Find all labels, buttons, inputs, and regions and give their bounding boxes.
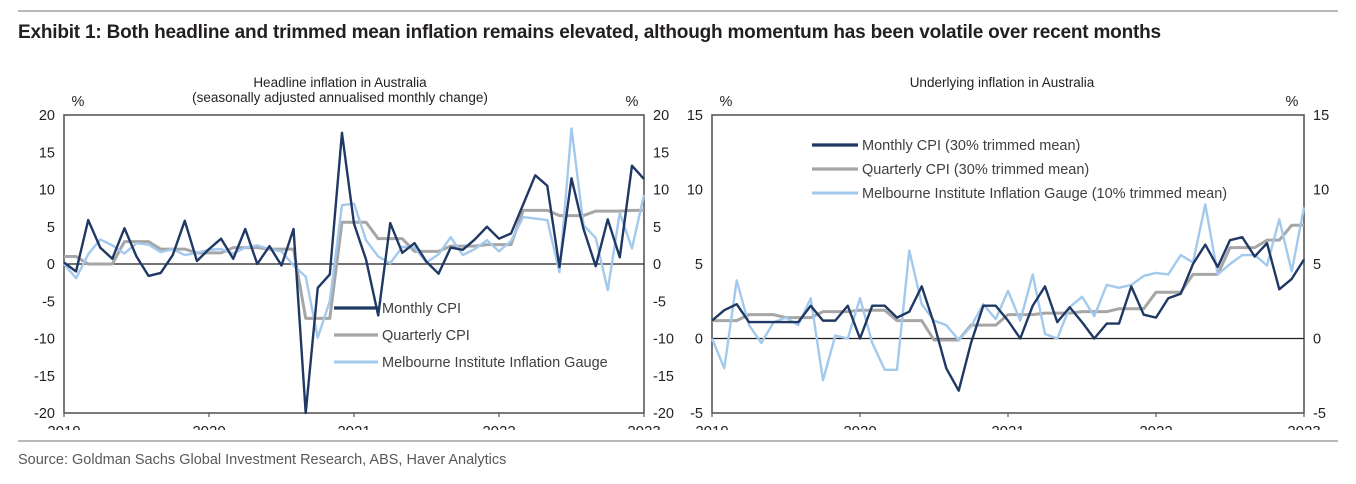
x-axis-label: 2020 [192,423,225,430]
y-axis-tick-right: 10 [1313,183,1329,199]
top-divider [18,10,1338,12]
x-axis-label: 2023 [1287,423,1320,430]
y-axis-tick-left: -5 [690,406,703,422]
y-axis-tick-right: -20 [653,406,674,422]
y-axis-tick-left: 5 [695,257,703,273]
y-axis-tick-left: -15 [34,369,55,385]
y-axis-unit-right: % [626,94,639,110]
x-axis-label: 2023 [627,423,660,430]
y-axis-tick-left: 10 [39,183,55,199]
y-axis-tick-left: -20 [34,406,55,422]
chart-panel-headline: Headline inflation in Australia (seasona… [0,75,678,430]
y-axis-tick-right: 0 [653,257,661,273]
y-axis-tick-right: 0 [1313,332,1321,348]
y-axis-tick-right: 20 [653,108,669,124]
y-axis-tick-right: 5 [1313,257,1321,273]
x-axis-label: 2021 [991,423,1024,430]
bottom-divider [18,440,1338,442]
x-axis-label: 2020 [843,423,876,430]
y-axis-tick-left: 10 [687,183,703,199]
legend-label-2: Melbourne Institute Inflation Gauge [382,355,608,371]
chart-canvas-underlying: -5051015-5051015%%20192020202120222023Mo… [678,75,1356,430]
chart-panel-underlying: Underlying inflation in Australia -50510… [678,75,1356,430]
y-axis-tick-left: 15 [687,108,703,124]
x-axis-label: 2019 [695,423,728,430]
chart-canvas-headline: -20-15-10-505101520-20-15-10-505101520%%… [0,75,678,430]
y-axis-tick-left: -10 [34,332,55,348]
y-axis-tick-left: -5 [42,294,55,310]
y-axis-unit-right: % [1286,94,1299,110]
y-axis-unit-left: % [720,94,733,110]
legend-label-2: Melbourne Institute Inflation Gauge (10%… [862,186,1227,202]
page-title: Exhibit 1: Both headline and trimmed mea… [18,22,1348,44]
y-axis-tick-right: -5 [653,294,666,310]
legend-label-1: Quarterly CPI (30% trimmed mean) [862,162,1089,178]
y-axis-tick-right: 5 [653,220,661,236]
y-axis-tick-right: 15 [1313,108,1329,124]
legend-label-0: Monthly CPI (30% trimmed mean) [862,138,1080,154]
x-axis-label: 2022 [482,423,515,430]
series-line-melbourne-gauge [712,204,1304,380]
legend-label-0: Monthly CPI [382,301,461,317]
y-axis-tick-right: 15 [653,145,669,161]
x-axis-label: 2019 [47,423,80,430]
y-axis-tick-right: 10 [653,183,669,199]
y-axis-tick-right: -15 [653,369,674,385]
y-axis-tick-left: 15 [39,145,55,161]
y-axis-tick-right: -10 [653,332,674,348]
source-note: Source: Goldman Sachs Global Investment … [18,452,506,468]
y-axis-tick-left: 0 [695,332,703,348]
y-axis-tick-left: 5 [47,220,55,236]
series-line-quarterly-cpi [712,225,1304,340]
y-axis-unit-left: % [72,94,85,110]
x-axis-label: 2021 [337,423,370,430]
x-axis-label: 2022 [1139,423,1172,430]
y-axis-tick-left: 20 [39,108,55,124]
series-line-melbourne-gauge [64,128,644,337]
legend-label-1: Quarterly CPI [382,328,470,344]
y-axis-tick-right: -5 [1313,406,1326,422]
y-axis-tick-left: 0 [47,257,55,273]
